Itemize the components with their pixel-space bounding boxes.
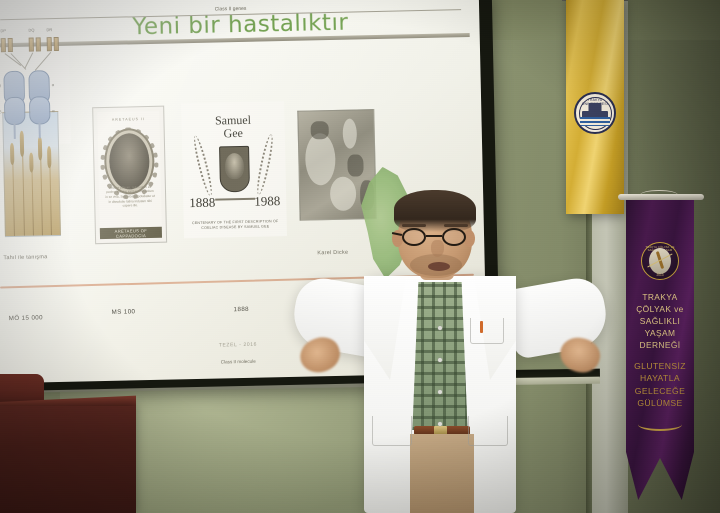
presenter	[302, 188, 600, 513]
timeline-year-1: MÖ 15 000	[9, 314, 43, 322]
aretaeus-top-label: ARETAEUS II	[97, 117, 159, 122]
smile-icon	[638, 418, 682, 431]
association-banner: TRAKYA ÇÖLYAK VE SAĞLIKLI YAŞAM DERNEĞİ …	[626, 200, 694, 500]
aretaeus-body-text: Velut te pilleum, aut nodum ex pacho, in…	[105, 185, 155, 209]
hla-chain-label-beta2: β	[0, 109, 2, 114]
association-emblem-year: 2013	[642, 273, 678, 277]
slide-image-hla-diagram: Class II genes DP DQ DR	[0, 0, 71, 146]
timeline-caption-tahil: Tahıl ile tanışma	[3, 254, 47, 261]
gee-year-start: 1888	[189, 195, 215, 212]
gee-year-end: 1988	[254, 193, 280, 210]
slide-image-aretaeus: ARETAEUS II Velut te pilleum, aut nodum …	[92, 106, 167, 245]
eyeglasses	[398, 228, 474, 246]
banner-slogan: GLUTENSİZHAYATLAGELECEĞEGÜLÜMSE	[626, 360, 694, 410]
hla-gene-label-dr: DR	[46, 27, 52, 32]
university-emblem: TRAKYA ÜNİVERSİTESİ	[574, 92, 616, 134]
hla-gene-label-dq: DQ	[28, 27, 34, 32]
gee-title-line2: Gee	[223, 126, 243, 140]
coat-pocket-left	[372, 416, 412, 446]
plaid-shirt	[410, 282, 470, 430]
timeline-year-3: 1888	[234, 306, 250, 313]
trakya-universitesi-flag: TRAKYA ÜNİVERSİTESİ	[566, 0, 624, 214]
mouth	[428, 262, 450, 271]
lecture-scene: Yeni bir hastalıktır ARETAEUS II	[0, 0, 720, 513]
gee-subtitle: CENTENARY OF THE FIRST DESCRIPTION OF CO…	[186, 219, 285, 233]
timeline-year-2: MS 100	[112, 308, 136, 316]
hla-chain-label-alpha2: α	[52, 108, 54, 113]
association-emblem: TRAKYA ÇÖLYAK VE SAĞLIKLI YAŞAM DERNEĞİ …	[641, 242, 679, 280]
slide-image-samuel-gee: Samuel Gee 1888 1988 CENTENARY OF THE FI…	[181, 101, 287, 238]
coat-chest-pocket	[470, 318, 504, 344]
pen-icon	[480, 321, 483, 333]
aretaeus-caption: ARETAEUS OF CAPPADOCIA	[100, 228, 162, 239]
trousers	[410, 434, 474, 513]
lab-coat	[302, 266, 600, 513]
hla-chain-label-beta1: β	[0, 83, 1, 88]
banner-title: TRAKYAÇÖLYAK veSAĞLIKLIYAŞAMDERNEĞİ	[626, 292, 694, 352]
hla-gene-label-dp: DP	[0, 28, 6, 33]
coat-pocket-right	[468, 416, 508, 446]
lectern	[0, 406, 136, 513]
slide-image-wheat-field	[2, 111, 61, 237]
banner-rod	[618, 194, 704, 200]
hla-chain-label-alpha1: α	[52, 82, 54, 87]
